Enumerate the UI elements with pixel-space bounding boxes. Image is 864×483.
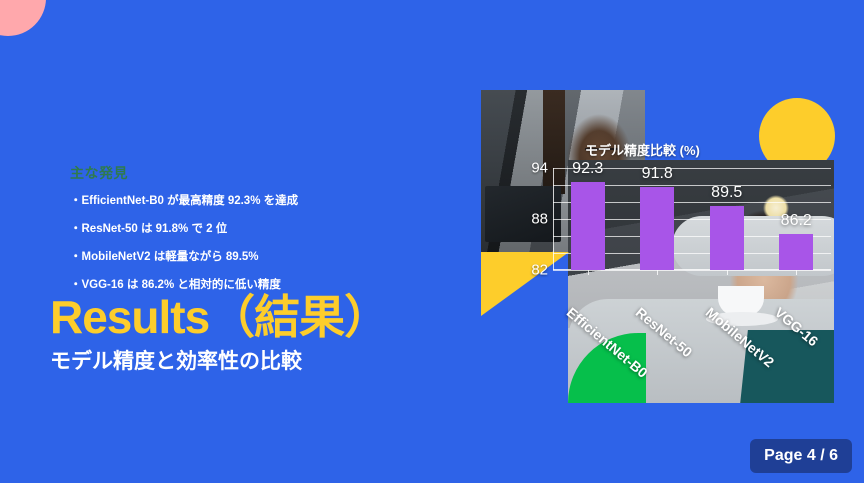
chart-x-tick — [727, 270, 728, 275]
page-title: Results（結果） — [50, 281, 389, 347]
accuracy-bar-chart: モデル精度比較 (%) 94888292.3EfficientNet-B091.… — [505, 140, 835, 320]
chart-bar — [571, 182, 605, 270]
chart-y-tick-label: 88 — [531, 211, 548, 228]
page-subtitle: モデル精度と効率性の比較 — [50, 345, 302, 375]
chart-bar — [710, 206, 744, 270]
chart-y-tick-label: 94 — [531, 160, 548, 177]
finding-bullet: ・EfficientNet-B0 が最高精度 92.3% を達成 — [70, 192, 400, 208]
finding-bullet: ・ResNet-50 は 91.8% で 2 位 — [70, 220, 400, 236]
chart-x-tick — [796, 270, 797, 275]
page-indicator: Page 4 / 6 — [750, 439, 852, 473]
finding-bullet: ・MobileNetV2 は軽量ながら 89.5% — [70, 248, 400, 264]
pink-circle-decoration — [0, 0, 46, 36]
chart-x-tick — [588, 270, 589, 275]
chart-data-label: 89.5 — [711, 184, 742, 202]
chart-bar — [640, 187, 674, 270]
chart-bar — [779, 234, 813, 270]
chart-data-label: 86.2 — [781, 212, 812, 230]
chart-y-tick-label: 82 — [531, 262, 548, 279]
chart-data-label: 92.3 — [572, 160, 603, 178]
chart-title: モデル精度比較 (%) — [585, 140, 700, 159]
chart-plot-area: 94888292.3EfficientNet-B091.8ResNet-5089… — [553, 168, 831, 270]
findings-heading: 主な発見 — [70, 163, 128, 183]
chart-data-label: 91.8 — [642, 165, 673, 183]
chart-gridline — [553, 270, 831, 271]
slide-canvas: モデル精度比較 (%) 94888292.3EfficientNet-B091.… — [0, 0, 864, 483]
chart-x-tick — [657, 270, 658, 275]
